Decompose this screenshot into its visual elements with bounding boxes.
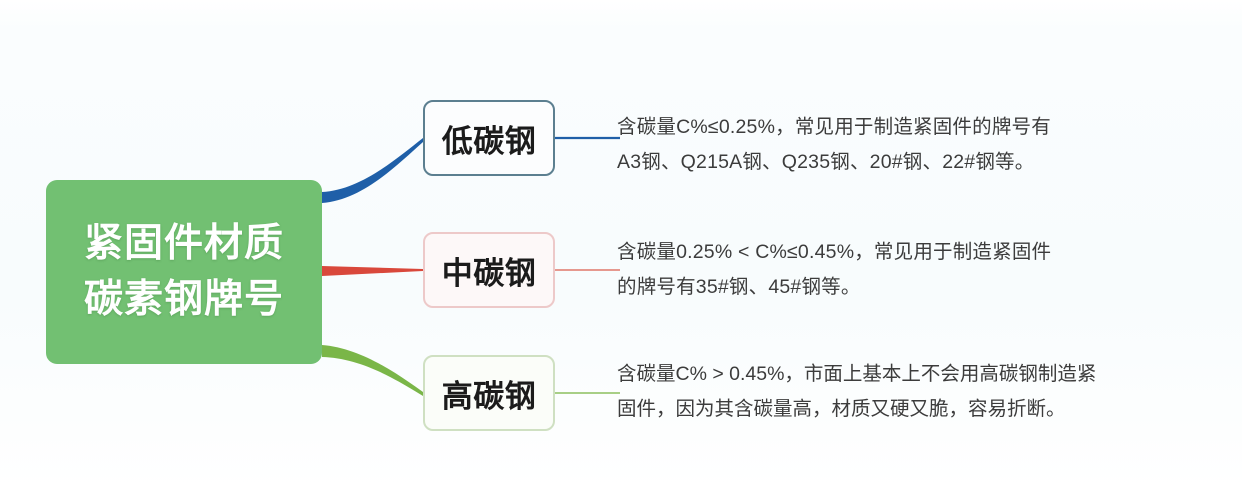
mindmap-canvas: 紧固件材质 碳素钢牌号 低碳钢 中碳钢 高碳钢 含碳量C%≤0.25%，常见用于… xyxy=(0,0,1242,489)
branch-node-high-carbon-steel[interactable]: 高碳钢 xyxy=(423,355,555,431)
description-line: 含碳量C% > 0.45%，市面上基本上不会用高碳钢制造紧 xyxy=(617,357,1197,392)
branch-node-low-carbon-steel[interactable]: 低碳钢 xyxy=(423,100,555,176)
description-medium-carbon-steel: 含碳量0.25% < C%≤0.45%，常见用于制造紧固件 的牌号有35#钢、4… xyxy=(617,235,1177,305)
root-title-line-2: 碳素钢牌号 xyxy=(84,272,284,328)
root-node[interactable]: 紧固件材质 碳素钢牌号 xyxy=(46,180,322,364)
description-line: 含碳量0.25% < C%≤0.45%，常见用于制造紧固件 xyxy=(617,235,1177,270)
description-line: 含碳量C%≤0.25%，常见用于制造紧固件的牌号有 xyxy=(617,110,1177,145)
root-title-line-1: 紧固件材质 xyxy=(84,216,284,272)
description-high-carbon-steel: 含碳量C% > 0.45%，市面上基本上不会用高碳钢制造紧 固件，因为其含碳量高… xyxy=(617,357,1197,427)
branch-label-medium-carbon-steel: 中碳钢 xyxy=(442,248,537,293)
edge-low-carbon xyxy=(322,138,423,203)
edge-medium-carbon xyxy=(322,266,423,276)
description-line: 固件，因为其含碳量高，材质又硬又脆，容易折断。 xyxy=(617,392,1197,427)
branch-label-low-carbon-steel: 低碳钢 xyxy=(442,116,537,161)
description-low-carbon-steel: 含碳量C%≤0.25%，常见用于制造紧固件的牌号有 A3钢、Q215A钢、Q23… xyxy=(617,110,1177,180)
description-line: 的牌号有35#钢、45#钢等。 xyxy=(617,270,1177,305)
branch-node-medium-carbon-steel[interactable]: 中碳钢 xyxy=(423,232,555,308)
edge-high-carbon xyxy=(322,345,423,396)
description-line: A3钢、Q215A钢、Q235钢、20#钢、22#钢等。 xyxy=(617,145,1177,180)
branch-label-high-carbon-steel: 高碳钢 xyxy=(442,371,537,416)
